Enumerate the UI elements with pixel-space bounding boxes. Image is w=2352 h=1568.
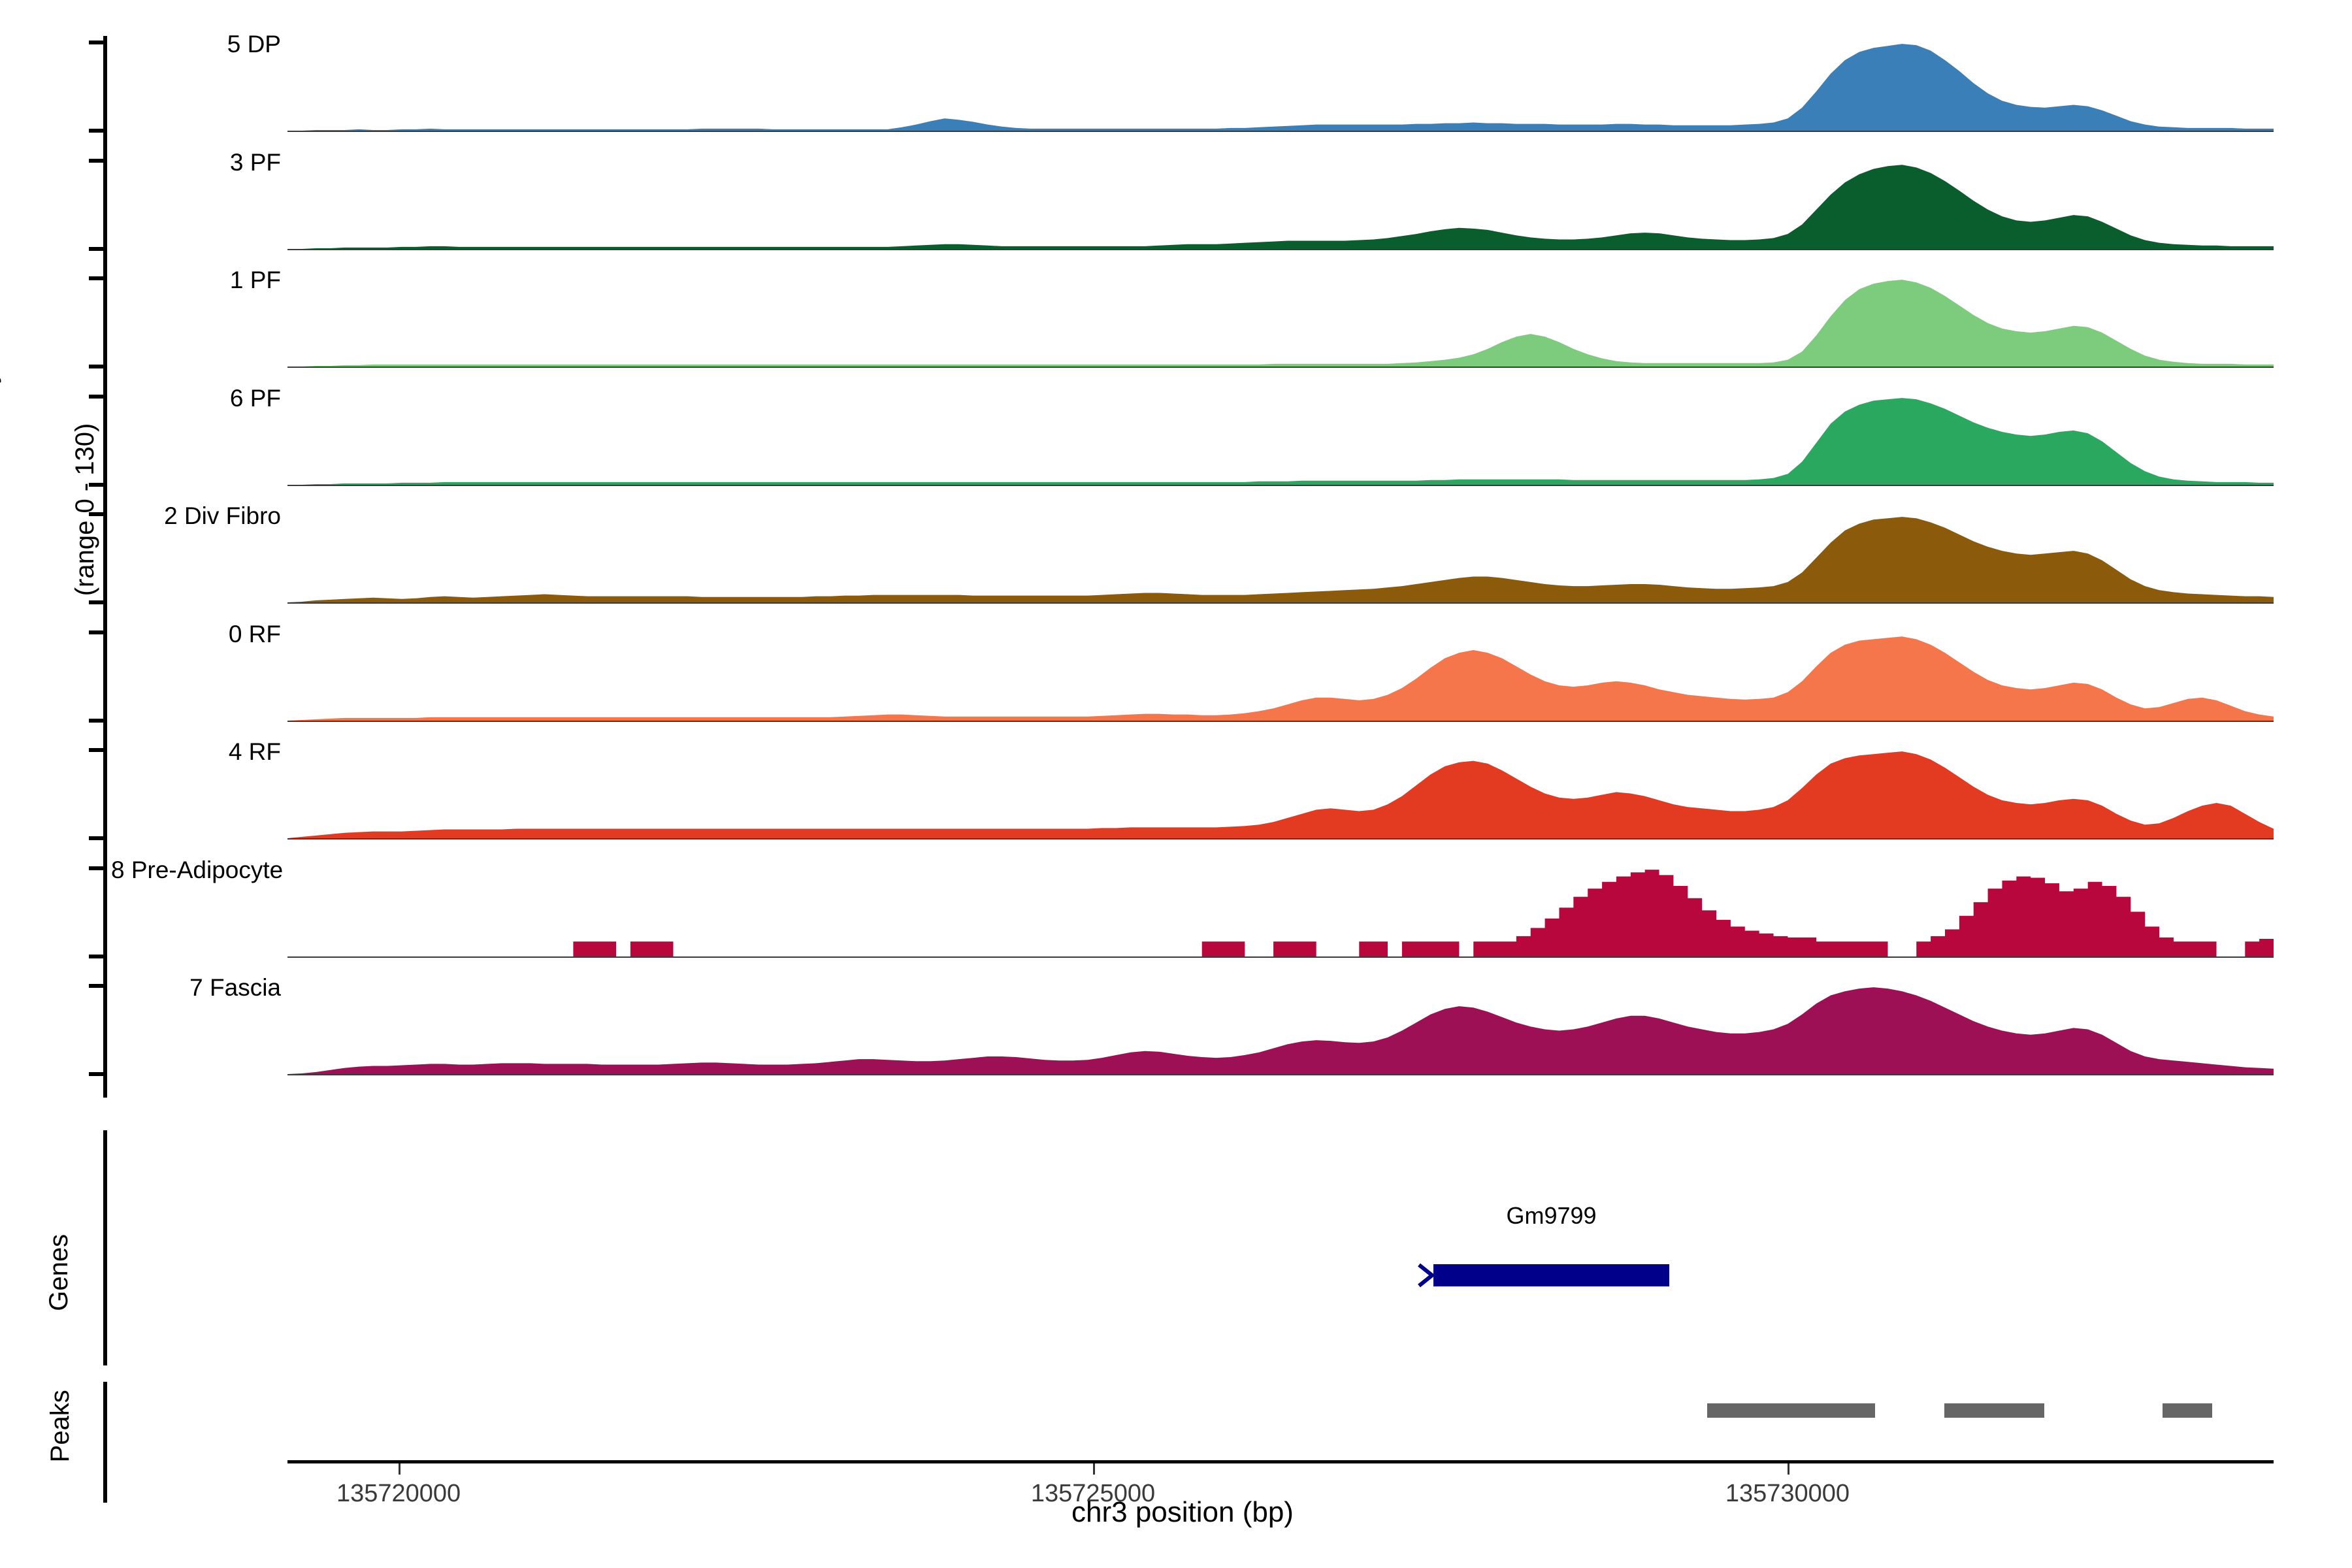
gene-body-gm9799[interactable] (1433, 1264, 1669, 1286)
track-baseline (287, 367, 2274, 368)
track-baseline (287, 485, 2274, 486)
y-axis-tick (89, 955, 105, 958)
y-axis-tick (89, 836, 105, 840)
y-axis-tick (89, 1072, 105, 1076)
track-label-0-rf: 0 RF (111, 621, 281, 648)
coverage-track-5-dp (287, 42, 2274, 131)
peak-bar[interactable] (1707, 1403, 1875, 1418)
y-axis-tick (89, 483, 105, 487)
gene-strand-arrow-icon (1416, 1261, 1436, 1290)
y-axis-tick (89, 276, 105, 280)
track-label-1-pf: 1 PF (111, 267, 281, 294)
coverage-track-8-pre-adipocyte (287, 868, 2274, 956)
y-axis-tick (89, 395, 105, 399)
genes-section-label: Genes (10, 1215, 108, 1359)
x-axis-tick (1093, 1463, 1095, 1475)
genome-browser-figure: Normalized accessibility (range 0 - 130)… (0, 0, 2352, 1568)
coverage-track-1-pf (287, 278, 2274, 367)
x-axis-tick (399, 1463, 400, 1475)
y-axis-tick (89, 748, 105, 752)
x-axis-line (287, 1460, 2274, 1463)
peaks-axis-spine (103, 1382, 107, 1503)
peaks-section-label: Peaks (11, 1369, 109, 1512)
y-axis-tick (89, 41, 105, 44)
x-axis-tick (1788, 1463, 1789, 1475)
y-axis-tick (89, 719, 105, 723)
x-axis-tick-label: 135720000 (268, 1480, 529, 1508)
coverage-track-4-rf (287, 750, 2274, 838)
track-baseline (287, 602, 2274, 604)
y-axis-tick (89, 630, 105, 634)
track-baseline (287, 838, 2274, 840)
track-label-3-pf: 3 PF (111, 149, 281, 176)
genes-axis-spine (103, 1130, 107, 1365)
coverage-track-2-div-fibro (287, 514, 2274, 602)
y-axis-tick (89, 600, 105, 604)
track-baseline (287, 1074, 2274, 1075)
y-axis-label-line1: Normalized accessibility (0, 340, 3, 679)
gene-name-label: Gm9799 (1480, 1202, 1624, 1230)
coverage-track-7-fascia (287, 986, 2274, 1074)
coverage-axis-spine (103, 36, 107, 1098)
y-axis-tick (89, 984, 105, 988)
x-axis-title: chr3 position (bp) (954, 1496, 1411, 1529)
track-baseline (287, 721, 2274, 722)
track-label-6-pf: 6 PF (111, 385, 281, 412)
track-label-4-rf: 4 RF (111, 738, 281, 766)
y-axis-tick (89, 866, 105, 870)
track-label-7-fascia: 7 Fascia (111, 974, 281, 1002)
track-label-5-dp: 5 DP (111, 31, 281, 58)
y-axis-tick (89, 129, 105, 133)
x-axis-tick-label: 135730000 (1657, 1480, 1918, 1508)
track-baseline (287, 249, 2274, 250)
y-axis-label-line2: (range 0 - 130) (69, 340, 101, 679)
track-label-8-pre-adipocyte: 8 Pre-Adipocyte (111, 857, 281, 884)
coverage-track-6-pf (287, 397, 2274, 485)
peak-bar[interactable] (2163, 1403, 2213, 1418)
y-axis-tick (89, 247, 105, 251)
track-label-2-div-fibro: 2 Div Fibro (111, 502, 281, 530)
y-axis-tick (89, 365, 105, 368)
track-baseline (287, 131, 2274, 132)
coverage-track-0-rf (287, 632, 2274, 721)
track-baseline (287, 956, 2274, 958)
y-axis-tick (89, 159, 105, 163)
coverage-track-3-pf (287, 161, 2274, 249)
y-axis-tick (89, 512, 105, 516)
peak-bar[interactable] (1944, 1403, 2044, 1418)
